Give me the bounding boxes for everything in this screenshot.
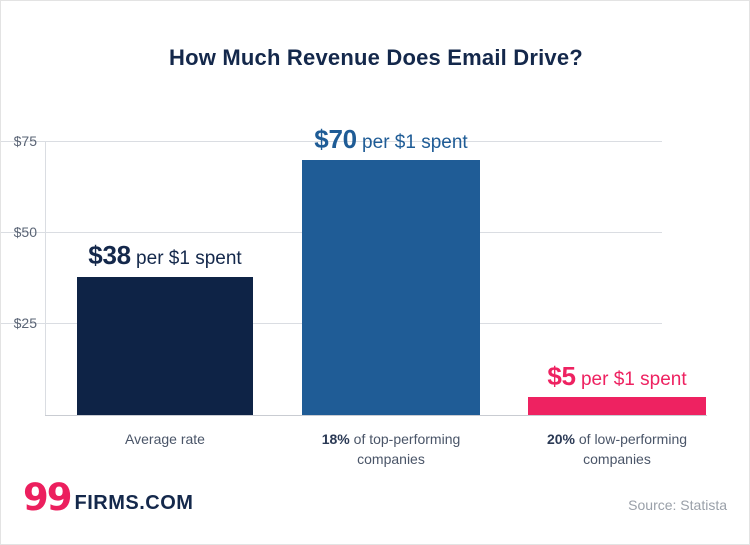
category-label-low-performing: 20% of low-performing companies (517, 429, 717, 469)
bar-value-suffix: per $1 spent (131, 248, 242, 269)
category-label-rest: of low-performing companies (575, 431, 687, 467)
source-attribution: Source: Statista (628, 497, 727, 513)
bar-value-amount: $38 (88, 240, 130, 270)
x-axis-baseline (45, 415, 707, 416)
bar-average-rate[interactable] (77, 277, 253, 415)
y-tick-label-25: $25 (0, 315, 37, 331)
category-label-rest: of top-performing companies (350, 431, 461, 467)
category-label-strong: 18% (322, 431, 350, 447)
logo-mark: 99 (23, 479, 71, 516)
bar-value-suffix: per $1 spent (576, 369, 687, 390)
bar-value-label-top-performing: $70 per $1 spent (314, 124, 467, 155)
infographic-card: How Much Revenue Does Email Drive? $75 $… (0, 0, 750, 545)
category-label-average-rate: Average rate (60, 429, 270, 449)
bar-value-label-average-rate: $38 per $1 spent (88, 240, 241, 271)
category-label-top-performing: 18% of top-performing companies (291, 429, 491, 469)
logo-wordmark: FIRMS.COM (75, 493, 194, 516)
category-label-rest: Average rate (125, 431, 205, 447)
bar-value-suffix: per $1 spent (357, 132, 468, 153)
bar-low-performing[interactable] (528, 397, 706, 415)
bar-value-amount: $70 (314, 124, 356, 154)
page-title: How Much Revenue Does Email Drive? (1, 45, 750, 71)
y-axis-line (45, 141, 46, 416)
y-tick-label-50: $50 (0, 224, 37, 240)
category-label-strong: 20% (547, 431, 575, 447)
bar-top-performing[interactable] (302, 160, 480, 415)
bar-value-label-low-performing: $5 per $1 spent (547, 361, 686, 392)
bar-value-amount: $5 (547, 361, 575, 391)
y-tick-label-75: $75 (0, 133, 37, 149)
logo-99firms[interactable]: 99 FIRMS.COM (23, 479, 193, 516)
